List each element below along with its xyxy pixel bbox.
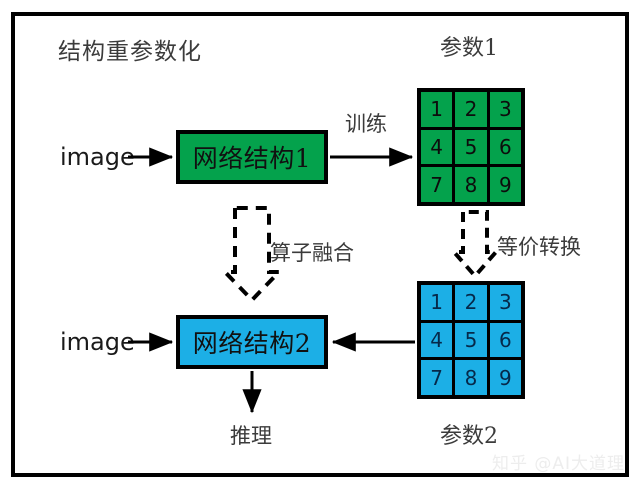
input-label-top: image (60, 143, 135, 171)
matrix-cell: 7 (421, 360, 452, 395)
matrix-caption-param1: 参数1 (440, 30, 498, 62)
edge-label-equivalent-transform: 等价转换 (497, 231, 581, 261)
matrix-cell: 9 (490, 167, 521, 202)
matrix-cell: 7 (421, 167, 452, 202)
matrix-cell: 6 (490, 130, 521, 165)
matrix-cell: 5 (455, 323, 486, 358)
matrix-cell: 4 (421, 130, 452, 165)
network-structure-2-box[interactable]: 网络结构2 (176, 315, 328, 369)
network-structure-1-box[interactable]: 网络结构1 (176, 130, 328, 184)
edge-label-operator-fusion: 算子融合 (270, 237, 354, 267)
diagram-canvas: 结构重参数化 image 网络结构1 训练 参数1 1 2 3 4 5 6 7 … (0, 0, 643, 490)
matrix-cell: 8 (455, 360, 486, 395)
page-title: 结构重参数化 (58, 32, 202, 66)
watermark: 知乎 @AI大道理 (492, 449, 625, 474)
matrix-caption-param2: 参数2 (440, 418, 498, 450)
matrix-cell: 4 (421, 323, 452, 358)
matrix-cell: 2 (455, 285, 486, 320)
matrix-cell: 3 (490, 92, 521, 127)
matrix-cell: 1 (421, 285, 452, 320)
input-label-bottom: image (60, 328, 135, 356)
parameter-matrix-1: 1 2 3 4 5 6 7 8 9 (417, 88, 525, 206)
matrix-cell: 1 (421, 92, 452, 127)
matrix-cell: 6 (490, 323, 521, 358)
matrix-cell: 2 (455, 92, 486, 127)
matrix-cell: 3 (490, 285, 521, 320)
edge-label-inference: 推理 (230, 420, 272, 450)
parameter-matrix-2: 1 2 3 4 5 6 7 8 9 (417, 281, 525, 399)
edge-label-train: 训练 (345, 108, 387, 138)
matrix-cell: 9 (490, 360, 521, 395)
matrix-cell: 5 (455, 130, 486, 165)
matrix-cell: 8 (455, 167, 486, 202)
